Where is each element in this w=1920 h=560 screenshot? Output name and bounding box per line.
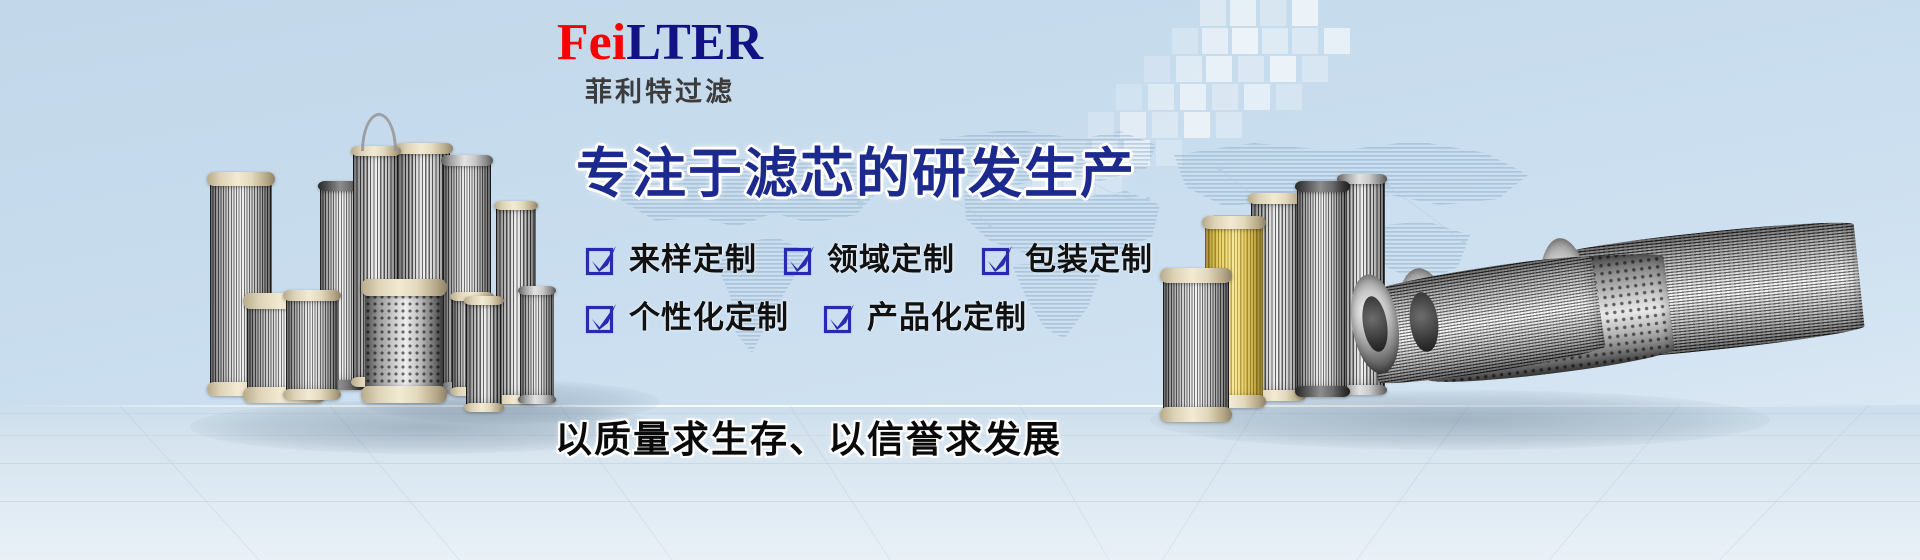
cartridge-handle: [361, 113, 397, 151]
feature-row-2: 个性化定制 产品化定制: [585, 300, 1153, 336]
mosaic-square: [1116, 84, 1142, 110]
mosaic-square: [1156, 140, 1182, 166]
mosaic-square: [1292, 0, 1318, 26]
feature-label: 产品化定制: [867, 300, 1027, 336]
floor-line: [1084, 405, 1260, 560]
mosaic-square: [1260, 0, 1286, 26]
mosaic-square: [1292, 28, 1318, 54]
checkbox-checked-icon: [823, 301, 857, 335]
filter-cartridge: [247, 300, 321, 396]
filter-cartridge: [1163, 275, 1229, 415]
filter-cartridge-horizontal: [1555, 217, 1866, 366]
mosaic-square: [1238, 56, 1264, 82]
promotional-banner: FeiLTER 菲利特过滤 专注于滤芯的研发生产 来样定制 领域定制: [0, 0, 1920, 560]
filter-cartridge: [520, 290, 554, 400]
cartridge-end-cap: [283, 389, 340, 400]
filter-cartridge: [1339, 178, 1385, 390]
feature-label: 个性化定制: [629, 300, 789, 336]
floor-line: [0, 463, 1920, 464]
cartridge-end-cap: [518, 395, 555, 404]
floor-line: [119, 405, 341, 560]
feature-row-1: 来样定制 领域定制 包装定制: [585, 242, 1153, 278]
cartridge-bore: [1549, 263, 1581, 327]
cartridge-body: [1205, 222, 1263, 402]
mosaic-square: [1152, 112, 1178, 138]
checkbox-checked-icon: [981, 243, 1015, 277]
cartridge-end-cap: [1248, 390, 1305, 401]
mosaic-square: [1232, 28, 1258, 54]
feature-item: 包装定制: [981, 242, 1153, 278]
cartridge-end-cap: [1248, 193, 1305, 204]
mosaic-square: [1324, 28, 1350, 54]
filter-cartridge: [353, 150, 399, 382]
floor-line: [1467, 405, 1680, 560]
cartridge-end-cap: [450, 387, 494, 396]
mosaic-square: [1276, 84, 1302, 110]
filter-cartridge: [1297, 186, 1347, 392]
filter-cartridge-horizontal: [1363, 251, 1606, 390]
cartridge-end-cap: [1337, 385, 1388, 395]
feature-item: 领域定制: [783, 242, 955, 278]
cartridge-bore: [1406, 291, 1441, 354]
cartridge-end-cap-open: [1534, 236, 1596, 355]
feature-list: 来样定制 领域定制 包装定制: [585, 242, 1153, 336]
cartridge-end-cap: [395, 380, 452, 391]
cartridge-end-cap: [1295, 181, 1350, 192]
filter-cartridge: [1251, 198, 1303, 396]
mosaic-square: [1144, 56, 1170, 82]
filter-cartridge: [452, 296, 492, 392]
feature-label: 领域定制: [827, 242, 955, 278]
mosaic-square: [1206, 56, 1232, 82]
cartridge-body: [353, 150, 399, 382]
cartridge-body: [1297, 186, 1347, 392]
cartridge-end-cap: [361, 386, 447, 403]
cartridge-end-cap: [441, 155, 494, 166]
mosaic-square: [1212, 84, 1238, 110]
filter-cartridge: [210, 178, 272, 390]
filter-cartridge-horizontal: [1414, 247, 1676, 389]
cartridge-body: [520, 290, 554, 400]
checkbox-checked-icon: [783, 243, 817, 277]
mosaic-square: [1088, 112, 1114, 138]
filter-cartridge: [320, 185, 364, 385]
cartridge-body: [320, 185, 364, 385]
mosaic-square: [1216, 112, 1242, 138]
mosaic-square: [1172, 28, 1198, 54]
mosaic-square: [1184, 112, 1210, 138]
feature-label: 包装定制: [1025, 242, 1153, 278]
cartridge-end-cap-open: [1392, 265, 1457, 379]
floor-line: [1640, 405, 1870, 560]
cartridge-body: [452, 296, 492, 392]
filter-cartridge: [443, 160, 491, 388]
cartridge-end-cap: [450, 292, 494, 301]
cartridge-end-cap: [494, 395, 538, 404]
filter-cartridge: [286, 295, 338, 395]
logo-chinese-name: 菲利特过滤: [495, 75, 825, 109]
cartridge-end-cap: [351, 146, 402, 156]
mosaic-square: [1180, 84, 1206, 110]
mosaic-square: [1120, 112, 1146, 138]
cartridge-end-cap: [207, 172, 275, 186]
floor-line: [1275, 405, 1470, 560]
headline-text: 专注于滤芯的研发生产: [576, 143, 1136, 205]
feilter-logo: FeiLTER 菲利特过滤: [495, 14, 825, 109]
cartridge-end-cap: [1202, 216, 1266, 229]
mosaic-square: [1176, 56, 1202, 82]
cartridge-body: [443, 160, 491, 388]
feature-label: 来样定制: [629, 242, 757, 278]
filter-cartridge: [466, 300, 502, 408]
cartridge-end-cap: [1295, 386, 1350, 397]
mosaic-square: [1200, 0, 1226, 26]
logo-text-fei: Fei: [557, 14, 626, 71]
floor-line: [329, 405, 542, 560]
mosaic-square: [1262, 28, 1288, 54]
mosaic-square: [1202, 28, 1228, 54]
feature-item: 个性化定制: [585, 300, 789, 336]
floor-line: [0, 501, 1920, 502]
cartridge-body: [1339, 178, 1385, 390]
filter-cartridge: [1205, 222, 1263, 402]
cartridge-end-cap: [318, 380, 366, 390]
floor-line: [0, 413, 1920, 414]
cartridge-body: [365, 287, 443, 395]
cartridge-body: [496, 205, 536, 400]
cartridge-end-cap: [243, 387, 324, 403]
filter-cartridge: [496, 205, 536, 400]
cartridge-end-cap: [494, 201, 538, 210]
cartridge-end-cap-open: [1344, 271, 1405, 377]
cartridge-body: [247, 300, 321, 396]
cartridge-end-cap: [207, 382, 275, 396]
cartridge-bore: [1359, 294, 1391, 353]
cartridge-end-cap: [395, 143, 452, 154]
cartridge-end-cap: [318, 181, 366, 191]
mosaic-square: [1230, 0, 1256, 26]
feature-item: 产品化定制: [823, 300, 1027, 336]
cartridge-end-cap: [518, 286, 555, 295]
cartridge-body: [398, 148, 450, 386]
filter-cartridge: [365, 287, 443, 395]
cartridge-end-cap: [1160, 268, 1233, 283]
mosaic-square: [1244, 84, 1270, 110]
cartridge-end-cap: [441, 382, 494, 393]
cartridge-body: [1251, 198, 1303, 396]
filter-cartridge: [398, 148, 450, 386]
cartridge-end-cap: [464, 296, 504, 305]
cartridge-body: [210, 178, 272, 390]
feature-item: 来样定制: [585, 242, 757, 278]
cartridge-body: [1414, 247, 1676, 389]
checkbox-checked-icon: [585, 243, 619, 277]
cartridge-end-cap: [351, 377, 402, 387]
logo-text-lter: LTER: [626, 14, 763, 71]
mosaic-square: [1270, 56, 1296, 82]
cartridge-end-cap: [283, 290, 340, 301]
cartridge-end-cap: [1337, 174, 1388, 184]
cartridge-body: [466, 300, 502, 408]
checkbox-checked-icon: [585, 301, 619, 335]
logo-wordmark: FeiLTER: [495, 14, 825, 72]
cartridge-body: [286, 295, 338, 395]
cartridge-end-cap: [361, 279, 447, 296]
cartridge-end-cap: [243, 293, 324, 309]
mosaic-square: [1148, 84, 1174, 110]
mosaic-square: [1302, 56, 1328, 82]
tagline-text: 以质量求生存、以信誉求发展: [555, 417, 1062, 463]
cartridge-body: [1163, 275, 1229, 415]
